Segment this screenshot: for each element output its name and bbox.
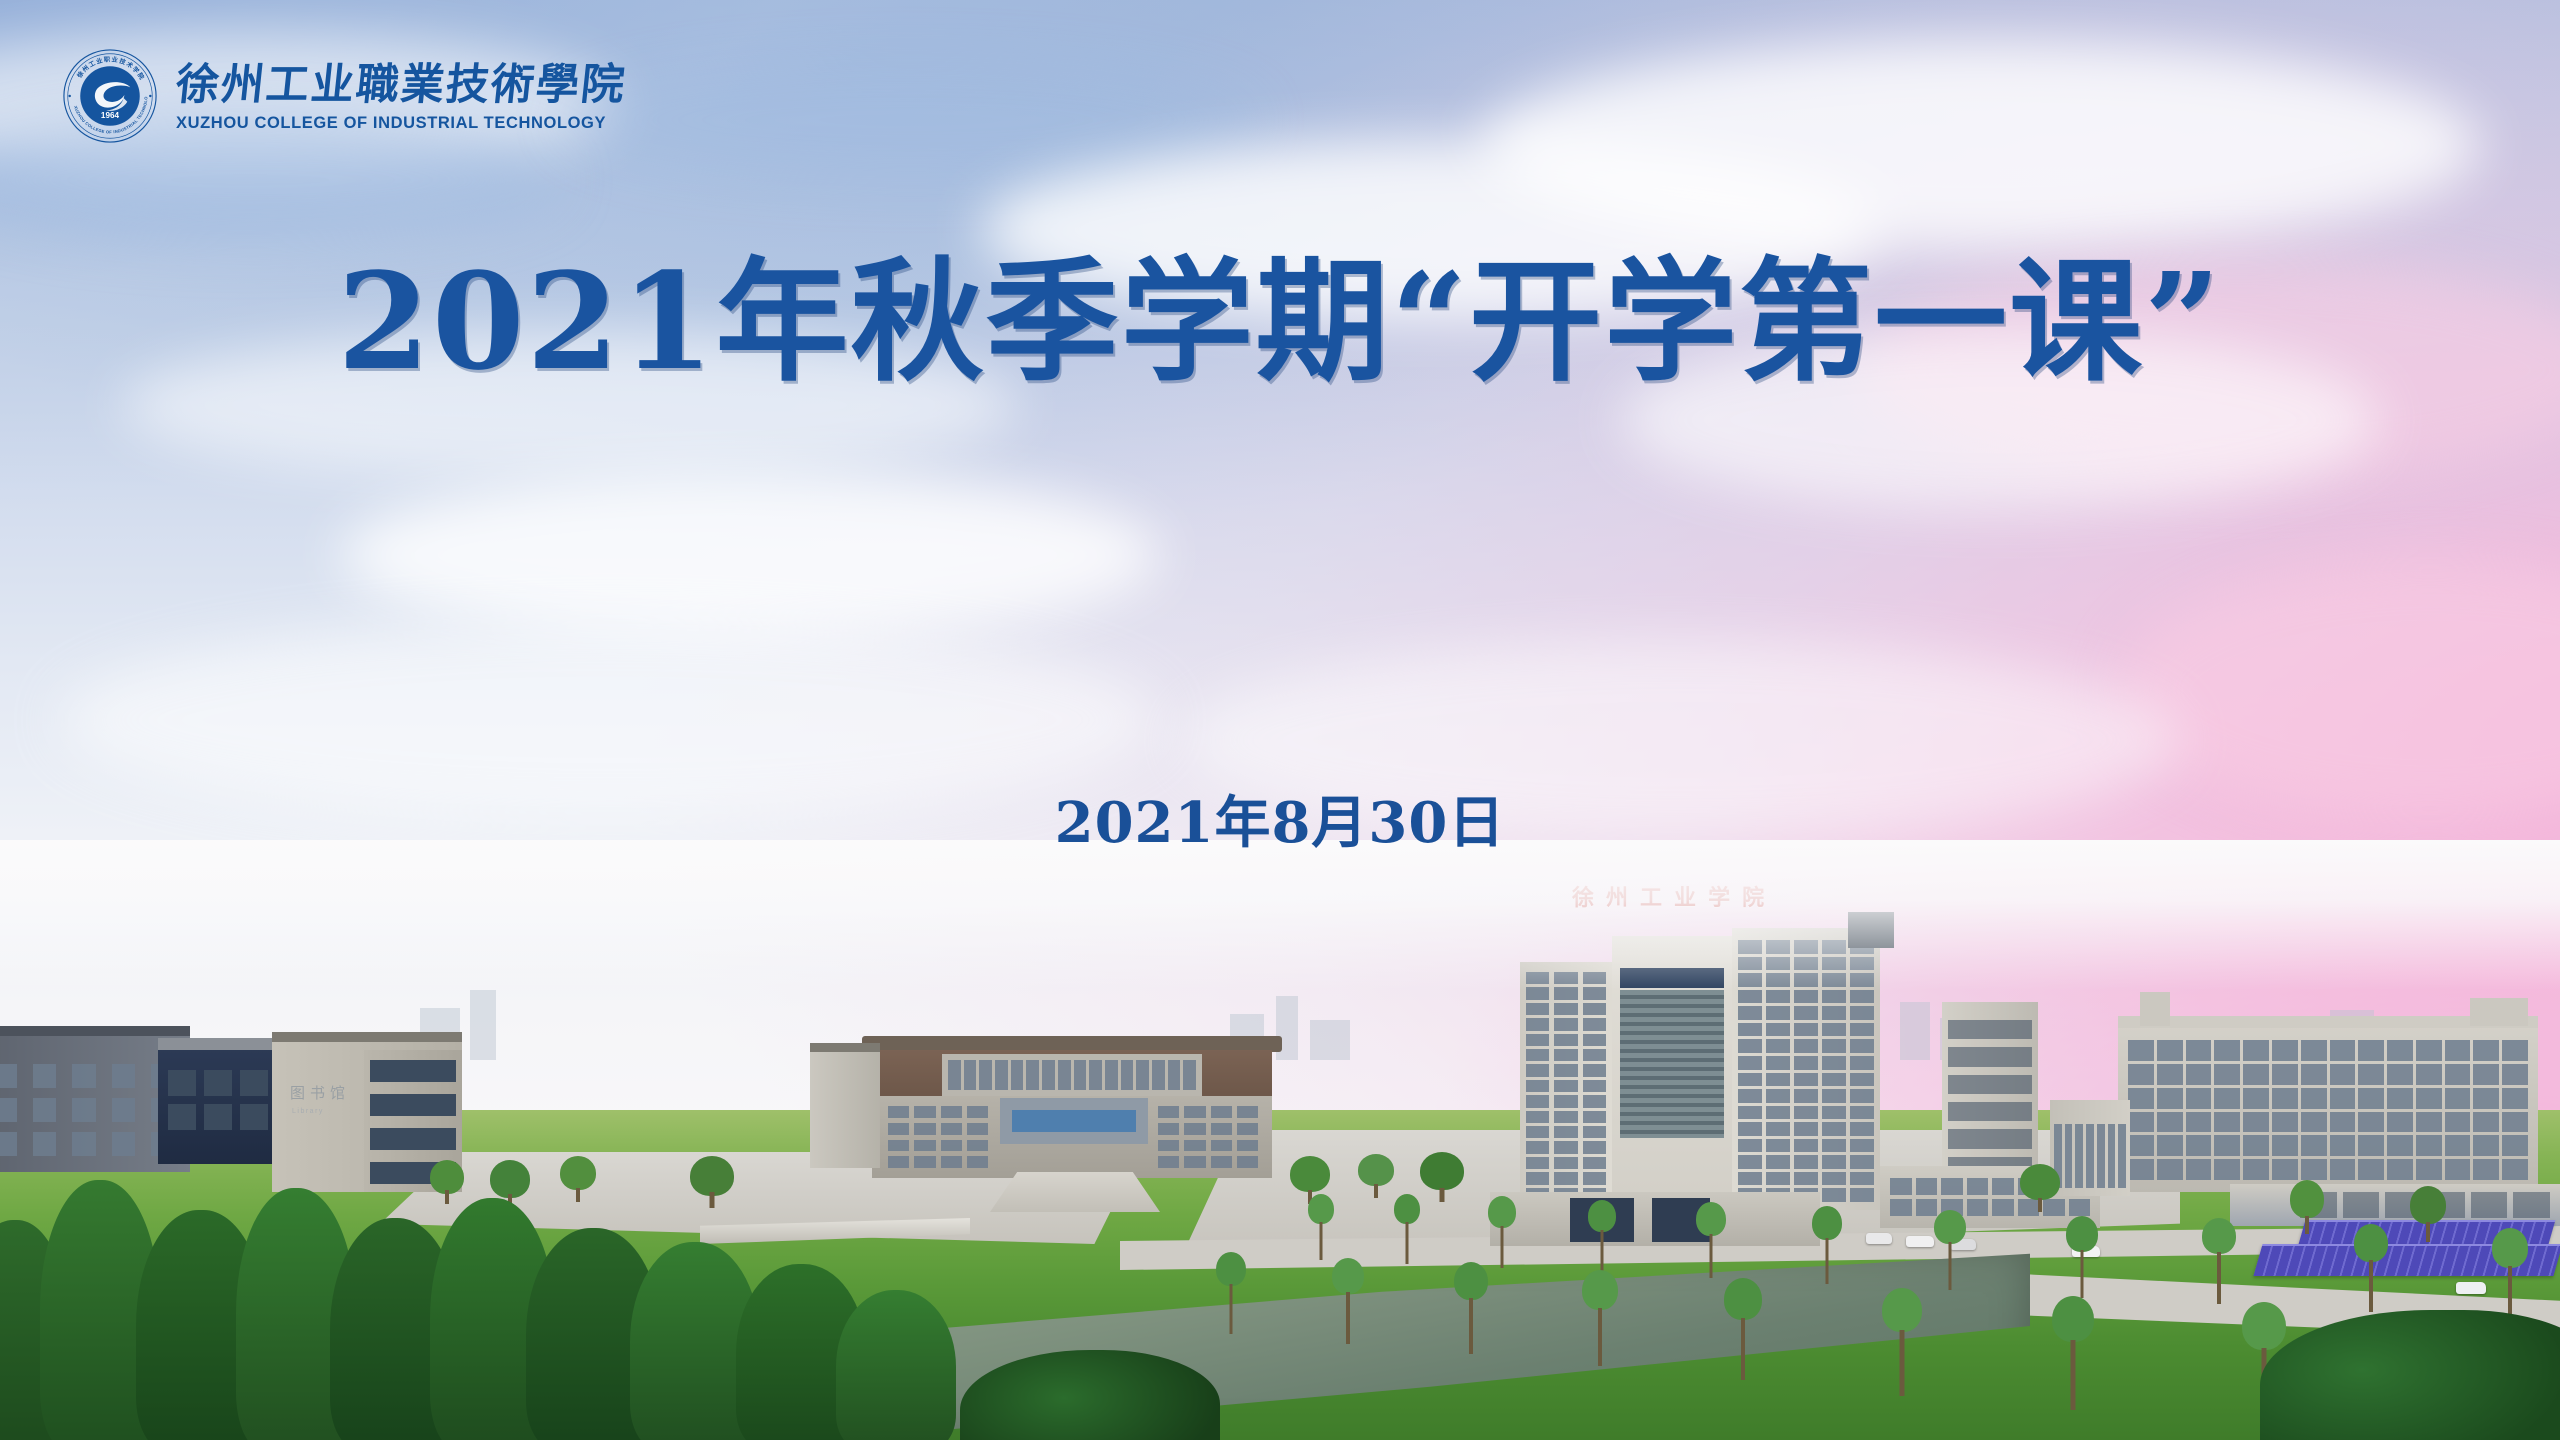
car xyxy=(1906,1236,1934,1247)
car xyxy=(2456,1282,2486,1294)
brand-wordmark: 徐州工业職業技術學院 XUZHOU COLLEGE OF INDUSTRIAL … xyxy=(176,59,626,132)
page-title: 2021年秋季学期“开学第一课” xyxy=(0,256,2560,389)
college-seal-icon: 1964 徐州工业职业技术学院 XUZHOU COLLEGE OF INDUST… xyxy=(62,48,158,144)
brand-name-en: XUZHOU COLLEGE OF INDUSTRIAL TECHNOLOGY xyxy=(176,114,626,133)
rooftop-sign: 徐 州 工 业 学 院 xyxy=(1572,888,1764,910)
brand-lockup: 1964 徐州工业职业技术学院 XUZHOU COLLEGE OF INDUST… xyxy=(62,48,626,144)
library-label-en: Library xyxy=(292,1108,324,1115)
tower-annex xyxy=(1942,1002,2038,1188)
campus-photograph: 图书馆 Library xyxy=(0,880,2560,1440)
car xyxy=(1866,1233,1892,1244)
workshop-block xyxy=(2118,1026,2538,1192)
event-date: 2021年8月30日 xyxy=(0,795,2560,851)
brand-name-cn: 徐州工业職業技術學院 xyxy=(174,63,629,108)
library-glass-wing xyxy=(158,1048,280,1164)
far-right-block xyxy=(2050,1100,2130,1196)
conifer-grove xyxy=(0,1150,960,1440)
library-label-cn: 图书馆 xyxy=(290,1082,350,1103)
svg-text:1964: 1964 xyxy=(101,111,120,120)
poster-canvas: 图书馆 Library xyxy=(0,0,2560,1440)
